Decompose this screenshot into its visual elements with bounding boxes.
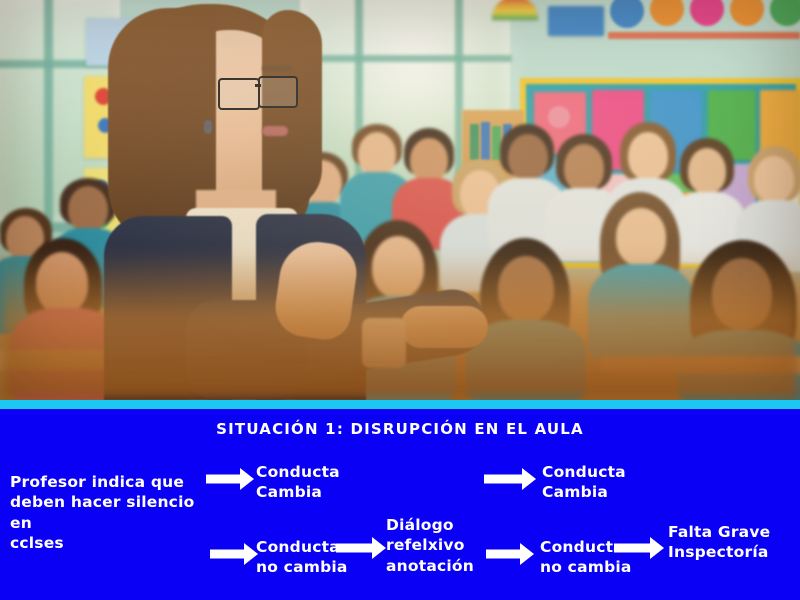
banner-accent-strip — [0, 400, 800, 409]
arrow-start-to-no-cambia-1 — [210, 543, 258, 565]
node-conducta-cambia-1: Conducta Cambia — [256, 462, 376, 503]
window-mullion-h2 — [300, 55, 512, 62]
teacher-glasses-left — [218, 78, 260, 110]
arrow-head-icon — [520, 543, 534, 565]
node-dialogo-line-3: anotación — [386, 556, 498, 576]
arrow-shaft — [614, 544, 650, 553]
node-dialogo-reflexivo: Diálogo refelxivo anotación — [386, 515, 498, 576]
node-start: Profesor indica que deben hacer silencio… — [10, 472, 210, 554]
arrow-shaft — [206, 475, 240, 484]
node-nocambia1-line-2: no cambia — [256, 557, 374, 577]
wall-rainbow — [492, 0, 538, 20]
window-mullion-v2 — [355, 0, 363, 200]
arrow-head-icon — [650, 537, 664, 559]
wall-label-strip — [608, 32, 800, 39]
teacher-eyebrow — [262, 66, 292, 71]
book-2 — [481, 122, 490, 160]
wall-blue-cards — [548, 6, 604, 36]
book-1 — [470, 124, 479, 160]
arrow-to-falta-grave — [614, 537, 664, 559]
node-falta-grave-inspectoria: Falta Grave Inspectoría — [668, 522, 800, 563]
arrow-head-icon — [522, 468, 536, 490]
arrow-head-icon — [240, 468, 254, 490]
arrow-start-to-cambia-top — [206, 468, 254, 490]
arrow-shaft — [484, 475, 522, 484]
teacher-mouth — [262, 126, 288, 136]
node-start-line-1: Profesor indica que — [10, 472, 210, 492]
arrow-shaft — [210, 550, 244, 559]
teacher-earring — [204, 120, 212, 134]
arrow-dialogo-to-no-cambia-2 — [486, 543, 534, 565]
arrow-to-cambia-top-right — [484, 468, 536, 490]
teacher-hair-right — [262, 10, 322, 210]
window-mullion-v1 — [44, 0, 53, 230]
node-dialogo-line-1: Diálogo — [386, 515, 498, 535]
teacher-glasses-bridge — [255, 84, 261, 87]
node-dialogo-line-2: refelxivo — [386, 535, 498, 555]
banner-title: SITUACIÓN 1: DISRUPCIÓN EN EL AULA — [0, 420, 800, 438]
diagram-banner: SITUACIÓN 1: DISRUPCIÓN EN EL AULA Profe… — [0, 400, 800, 600]
arrow-shaft — [336, 544, 372, 553]
node-falta-line-1: Falta Grave — [668, 522, 800, 542]
node-conducta-cambia-2: Conducta Cambia — [542, 462, 662, 503]
node-cambia2-line-1: Conducta — [542, 462, 662, 482]
arrow-no-cambia-to-dialogo — [336, 537, 386, 559]
node-cambia1-line-1: Conducta — [256, 462, 376, 482]
node-cambia2-line-2: Cambia — [542, 482, 662, 502]
node-start-line-3: cclses — [10, 533, 210, 553]
node-falta-line-2: Inspectoría — [668, 542, 800, 562]
arrow-shaft — [486, 550, 520, 559]
floor-light-wash — [0, 250, 800, 400]
node-nocambia2-line-2: no cambia — [540, 557, 658, 577]
classroom-photo — [0, 0, 800, 400]
board-dot-1 — [548, 106, 570, 128]
teacher-glasses-right — [258, 76, 298, 108]
node-cambia1-line-2: Cambia — [256, 482, 376, 502]
node-start-line-2: deben hacer silencio en — [10, 492, 210, 533]
slide-canvas: SITUACIÓN 1: DISRUPCIÓN EN EL AULA Profe… — [0, 0, 800, 600]
arrow-head-icon — [372, 537, 386, 559]
